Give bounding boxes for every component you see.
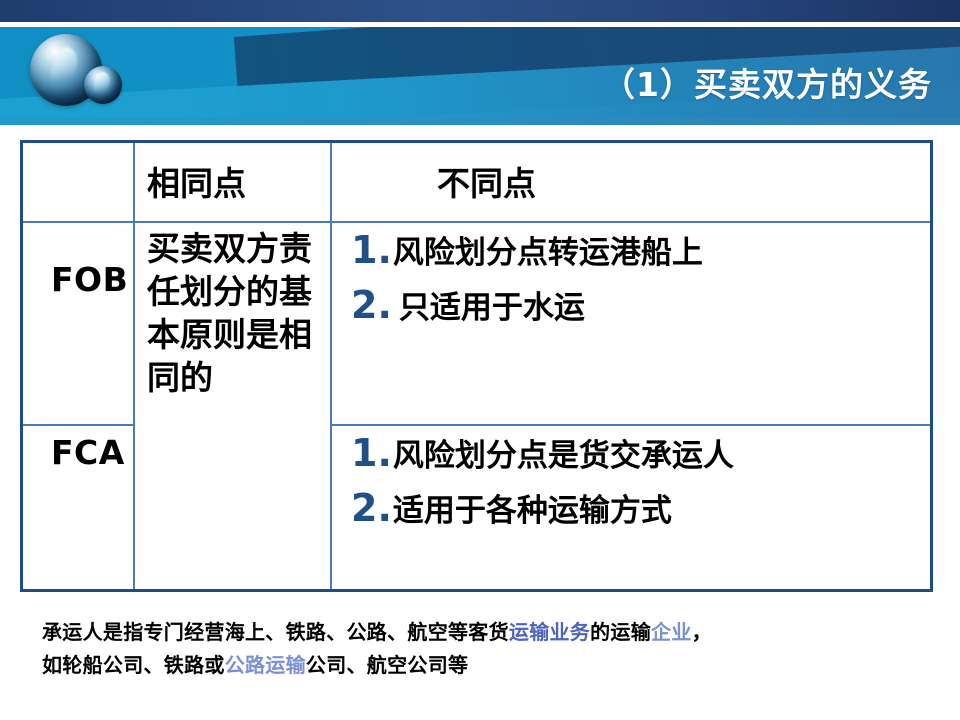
list-text: 风险划分点是货交承运人 bbox=[393, 431, 734, 481]
list-number: 2. bbox=[351, 280, 392, 330]
list-text: 适用于各种运输方式 bbox=[393, 486, 672, 536]
list-item: 2. 只适用于水运 bbox=[351, 280, 703, 333]
footer-text-segment: 的运输 bbox=[590, 620, 651, 644]
footer-text-segment: ， bbox=[692, 620, 712, 644]
footer-note: 承运人是指专门经营海上、铁路、公路、航空等客货运输业务的运输企业， 如轮船公司、… bbox=[42, 616, 942, 682]
comparison-table: 相同点 不同点 FOB FCA 买卖双方责任划分的基本原则是相同的 1. 风险划… bbox=[20, 140, 933, 592]
table-header-different: 不同点 bbox=[437, 157, 536, 205]
slide-header: （1）买卖双方的义务 bbox=[0, 0, 960, 125]
table-cell-same-points: 买卖双方责任划分的基本原则是相同的 bbox=[147, 227, 327, 399]
list-text: 风险划分点转运港船上 bbox=[393, 228, 703, 278]
footer-text-segment: 公司、航空公司等 bbox=[306, 653, 468, 677]
table-header-divider bbox=[23, 221, 930, 223]
footer-text-segment: 如轮船公司、铁路或 bbox=[42, 653, 225, 677]
table-cell-fob-differences: 1. 风险划分点转运港船上 2. 只适用于水运 bbox=[351, 225, 703, 335]
header-bottom-strip bbox=[0, 118, 960, 125]
list-number: 1. bbox=[351, 428, 392, 478]
footer-link-road-transport[interactable]: 公路运输 bbox=[225, 653, 306, 677]
list-item: 1. 风险划分点是货交承运人 bbox=[351, 428, 734, 481]
slide-canvas: （1）买卖双方的义务 相同点 不同点 FOB FCA 买卖双方责任划分的基本原则… bbox=[0, 0, 960, 720]
footer-link-enterprise[interactable]: 企业 bbox=[651, 620, 692, 644]
footer-note-line-2: 如轮船公司、铁路或公路运输公司、航空公司等 bbox=[42, 649, 942, 682]
table-cell-fca-differences: 1. 风险划分点是货交承运人 2. 适用于各种运输方式 bbox=[351, 428, 734, 538]
list-text: 只适用于水运 bbox=[393, 283, 585, 333]
list-number: 1. bbox=[351, 225, 392, 275]
metallic-sphere-logo-icon bbox=[24, 32, 144, 112]
table-row-label-fob: FOB bbox=[51, 260, 128, 299]
logo-sphere-small bbox=[84, 66, 122, 104]
list-item: 2. 适用于各种运输方式 bbox=[351, 483, 734, 536]
list-item: 1. 风险划分点转运港船上 bbox=[351, 225, 703, 278]
table-vertical-divider-2 bbox=[330, 143, 332, 589]
table-row-divider-right bbox=[330, 424, 930, 426]
footer-text-segment: 承运人是指专门经营海上、铁路、公路、航空等客货 bbox=[42, 620, 509, 644]
page-title: （1）买卖双方的义务 bbox=[602, 58, 932, 106]
list-number: 2. bbox=[351, 483, 392, 533]
table-vertical-divider-1 bbox=[133, 143, 135, 589]
footer-link-transport-business[interactable]: 运输业务 bbox=[509, 620, 590, 644]
table-header-same: 相同点 bbox=[147, 157, 246, 205]
header-navy-strip bbox=[0, 0, 960, 22]
table-row-divider-left bbox=[23, 424, 133, 426]
table-row-label-fca: FCA bbox=[51, 433, 125, 472]
footer-note-line-1: 承运人是指专门经营海上、铁路、公路、航空等客货运输业务的运输企业， bbox=[42, 616, 942, 649]
